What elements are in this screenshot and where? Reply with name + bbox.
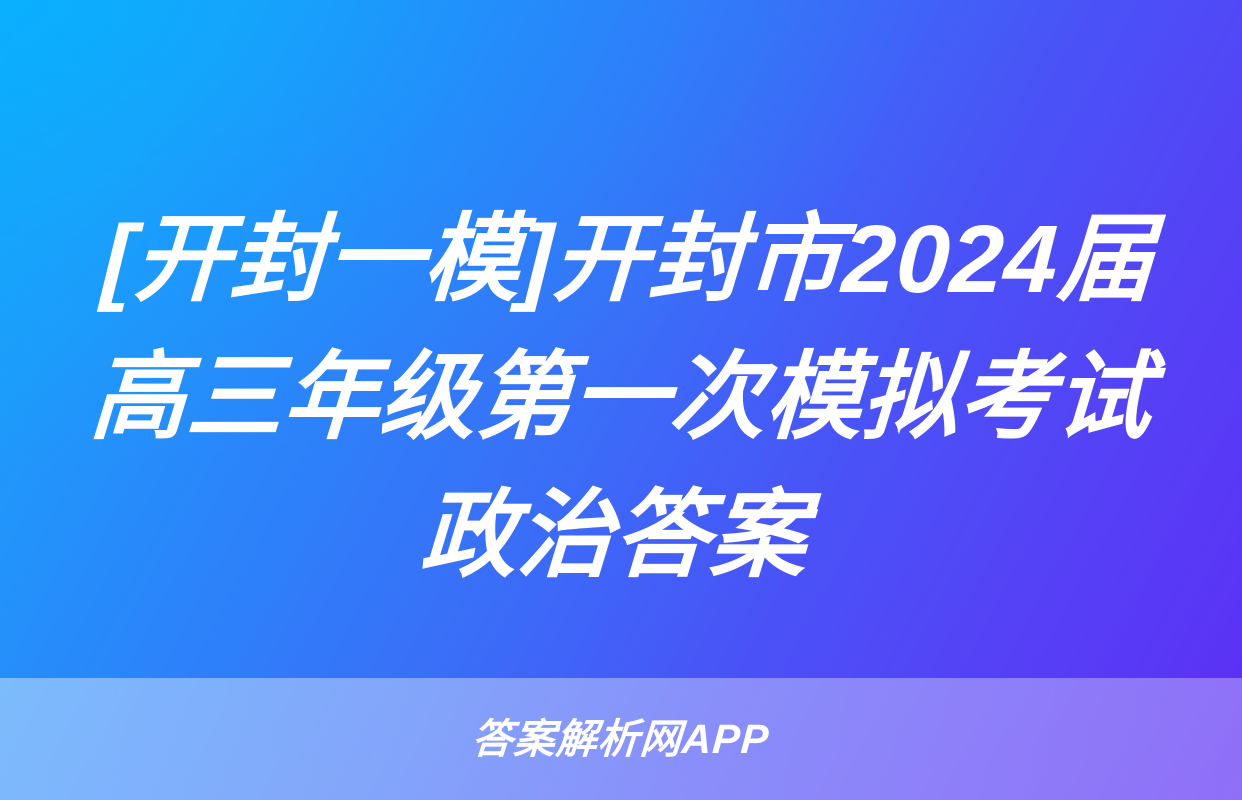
title-container: [开封一模]开封市2024届高三年级第一次模拟考试政治答案 — [0, 168, 1242, 628]
watermark-band: 答案解析网APP — [0, 678, 1242, 800]
page-title: [开封一模]开封市2024届高三年级第一次模拟考试政治答案 — [61, 191, 1181, 606]
watermark-brand-label: 答案解析网APP — [471, 719, 771, 760]
poster-canvas: [开封一模]开封市2024届高三年级第一次模拟考试政治答案 答案解析网APP — [0, 0, 1242, 800]
